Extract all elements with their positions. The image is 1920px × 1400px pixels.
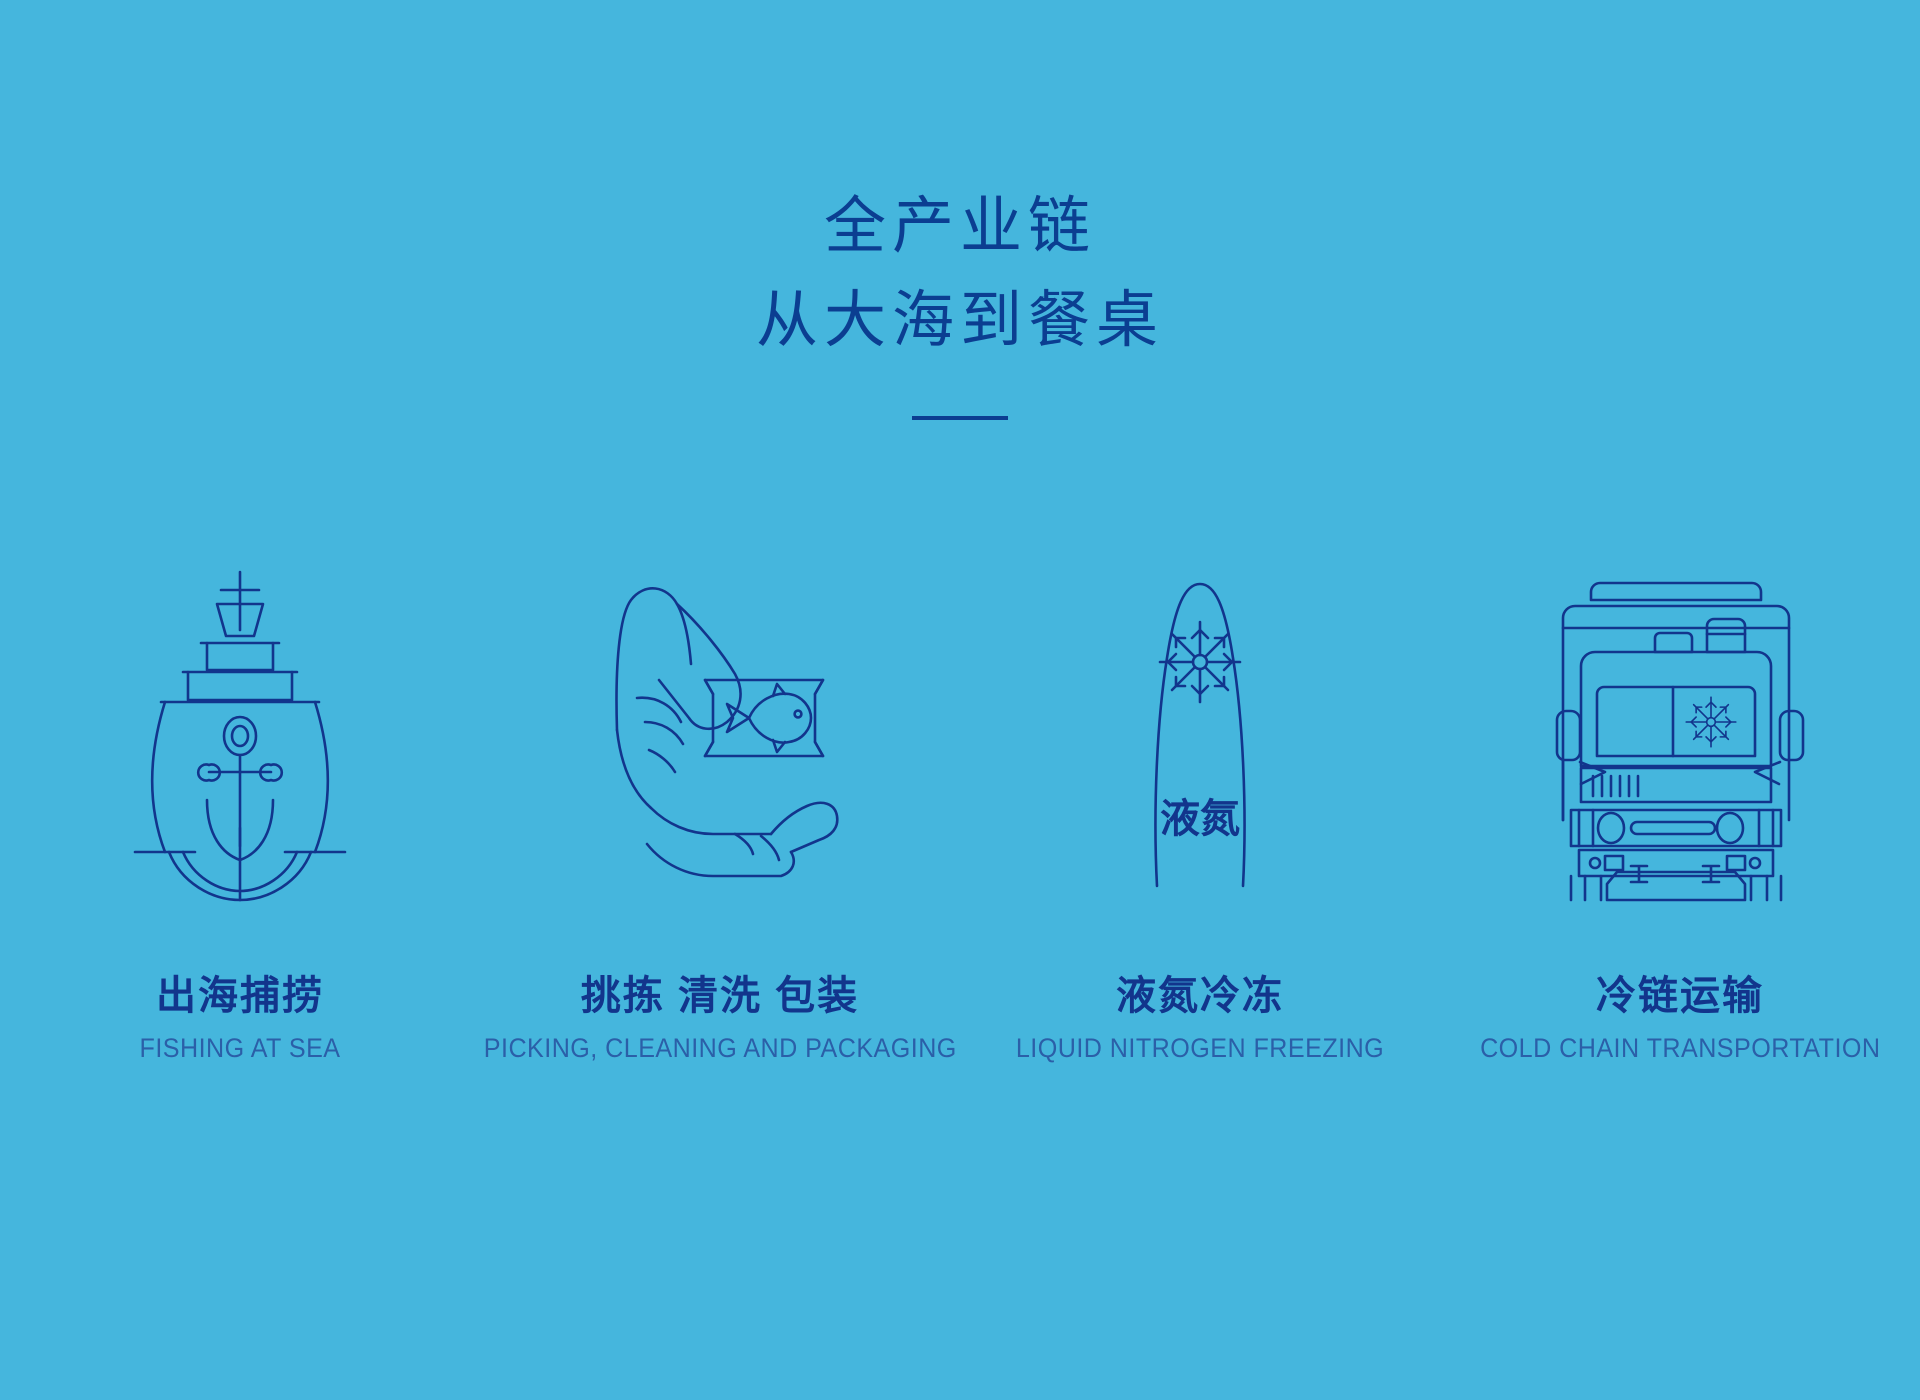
step-3-title-cn: 液氮冷冻 <box>1002 972 1398 1020</box>
fishing-boat-with-anchor-icon <box>125 560 355 900</box>
step-1-title-cn: 出海捕捞 <box>132 972 348 1020</box>
heading-divider <box>912 416 1008 420</box>
heading-block: 全产业链 从大海到餐桌 <box>0 180 1920 420</box>
liquid-nitrogen-tank-icon: 液氮 <box>1135 570 1265 900</box>
step-2-title-en: PICKING, CLEANING AND PACKAGING <box>484 1032 957 1064</box>
step-3-title-en: LIQUID NITROGEN FREEZING <box>1016 1032 1384 1064</box>
heading-line-1: 全产业链 <box>0 180 1920 274</box>
step-1-title-en: FISHING AT SEA <box>140 1032 341 1064</box>
grille-slats-icon <box>1593 776 1638 796</box>
step-2-caption: 挑拣 清洗 包装 PICKING, CLEANING AND PACKAGING <box>466 972 975 1064</box>
hands-with-packaged-fish-icon <box>585 570 855 900</box>
step-picking-cleaning-packaging[interactable]: 挑拣 清洗 包装 PICKING, CLEANING AND PACKAGING <box>480 520 960 1064</box>
snowflake-icon <box>1686 697 1736 747</box>
step-2-artwork <box>585 520 855 900</box>
tank-label: 液氮 <box>1160 797 1240 841</box>
step-4-title-cn: 冷链运输 <box>1465 972 1896 1020</box>
infographic-page: 全产业链 从大海到餐桌 <box>0 0 1920 1400</box>
step-2-title-cn: 挑拣 清洗 包装 <box>466 972 975 1020</box>
step-cold-chain-transportation[interactable]: 冷链运输 COLD CHAIN TRANSPORTATION <box>1440 520 1920 1064</box>
step-4-title-en: COLD CHAIN TRANSPORTATION <box>1480 1032 1880 1064</box>
process-steps-row: 出海捕捞 FISHING AT SEA <box>0 520 1920 1064</box>
heading-line-2: 从大海到餐桌 <box>0 274 1920 368</box>
step-fishing-at-sea[interactable]: 出海捕捞 FISHING AT SEA <box>0 520 480 1064</box>
step-3-artwork: 液氮 <box>1135 520 1265 900</box>
step-1-artwork <box>125 520 355 900</box>
step-4-caption: 冷链运输 COLD CHAIN TRANSPORTATION <box>1465 972 1896 1064</box>
step-1-caption: 出海捕捞 FISHING AT SEA <box>132 972 348 1064</box>
step-liquid-nitrogen-freezing[interactable]: 液氮 液氮冷冻 LIQUID NITROGEN FREEZING <box>960 520 1440 1064</box>
step-3-caption: 液氮冷冻 LIQUID NITROGEN FREEZING <box>1002 972 1398 1064</box>
step-4-artwork <box>1549 520 1811 900</box>
refrigerated-truck-icon <box>1549 570 1811 900</box>
snowflake-icon <box>1160 622 1240 702</box>
